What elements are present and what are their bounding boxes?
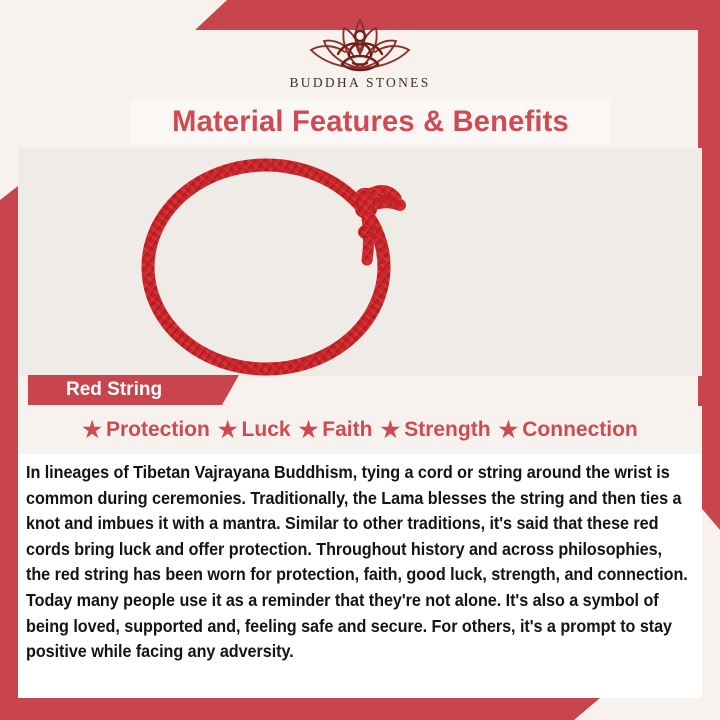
- title-banner: Material Features & Benefits: [131, 99, 610, 144]
- benefit-label: Faith: [322, 418, 372, 442]
- product-image: [18, 148, 702, 376]
- description-text: In lineages of Tibetan Vajrayana Buddhis…: [26, 460, 688, 665]
- benefit-item-protection: ★ Protection: [78, 418, 214, 442]
- star-icon: ★: [380, 419, 400, 441]
- decor-bar-bottom: [0, 698, 600, 720]
- star-icon: ★: [218, 419, 238, 441]
- star-icon: ★: [82, 419, 102, 441]
- benefit-item-connection: ★ Connection: [495, 418, 642, 442]
- red-braided-string-bracelet-illustration: [18, 148, 702, 376]
- benefit-item-faith: ★ Faith: [295, 418, 377, 442]
- poster-root: BUDDHA STONES Material Features & Benefi…: [0, 0, 720, 720]
- benefit-label: Luck: [242, 418, 291, 442]
- section-label-banner: Red String: [28, 375, 239, 405]
- description-block: In lineages of Tibetan Vajrayana Buddhis…: [18, 454, 702, 698]
- page-title: Material Features & Benefits: [172, 105, 569, 139]
- brand-name: BUDDHA STONES: [289, 75, 430, 91]
- star-icon: ★: [499, 419, 519, 441]
- benefit-label: Strength: [404, 418, 490, 442]
- decor-bar-left: [0, 186, 18, 720]
- benefit-label: Protection: [106, 418, 210, 442]
- benefit-item-strength: ★ Strength: [376, 418, 494, 442]
- benefits-list: ★ Protection ★ Luck ★ Faith ★ Strength ★…: [18, 406, 702, 454]
- brand-logo: BUDDHA STONES: [0, 14, 720, 91]
- benefit-item-luck: ★ Luck: [214, 418, 295, 442]
- section-label-text: Red String: [28, 379, 162, 401]
- benefit-label: Connection: [522, 418, 638, 442]
- star-icon: ★: [299, 419, 319, 441]
- lotus-meditation-icon: [301, 14, 419, 72]
